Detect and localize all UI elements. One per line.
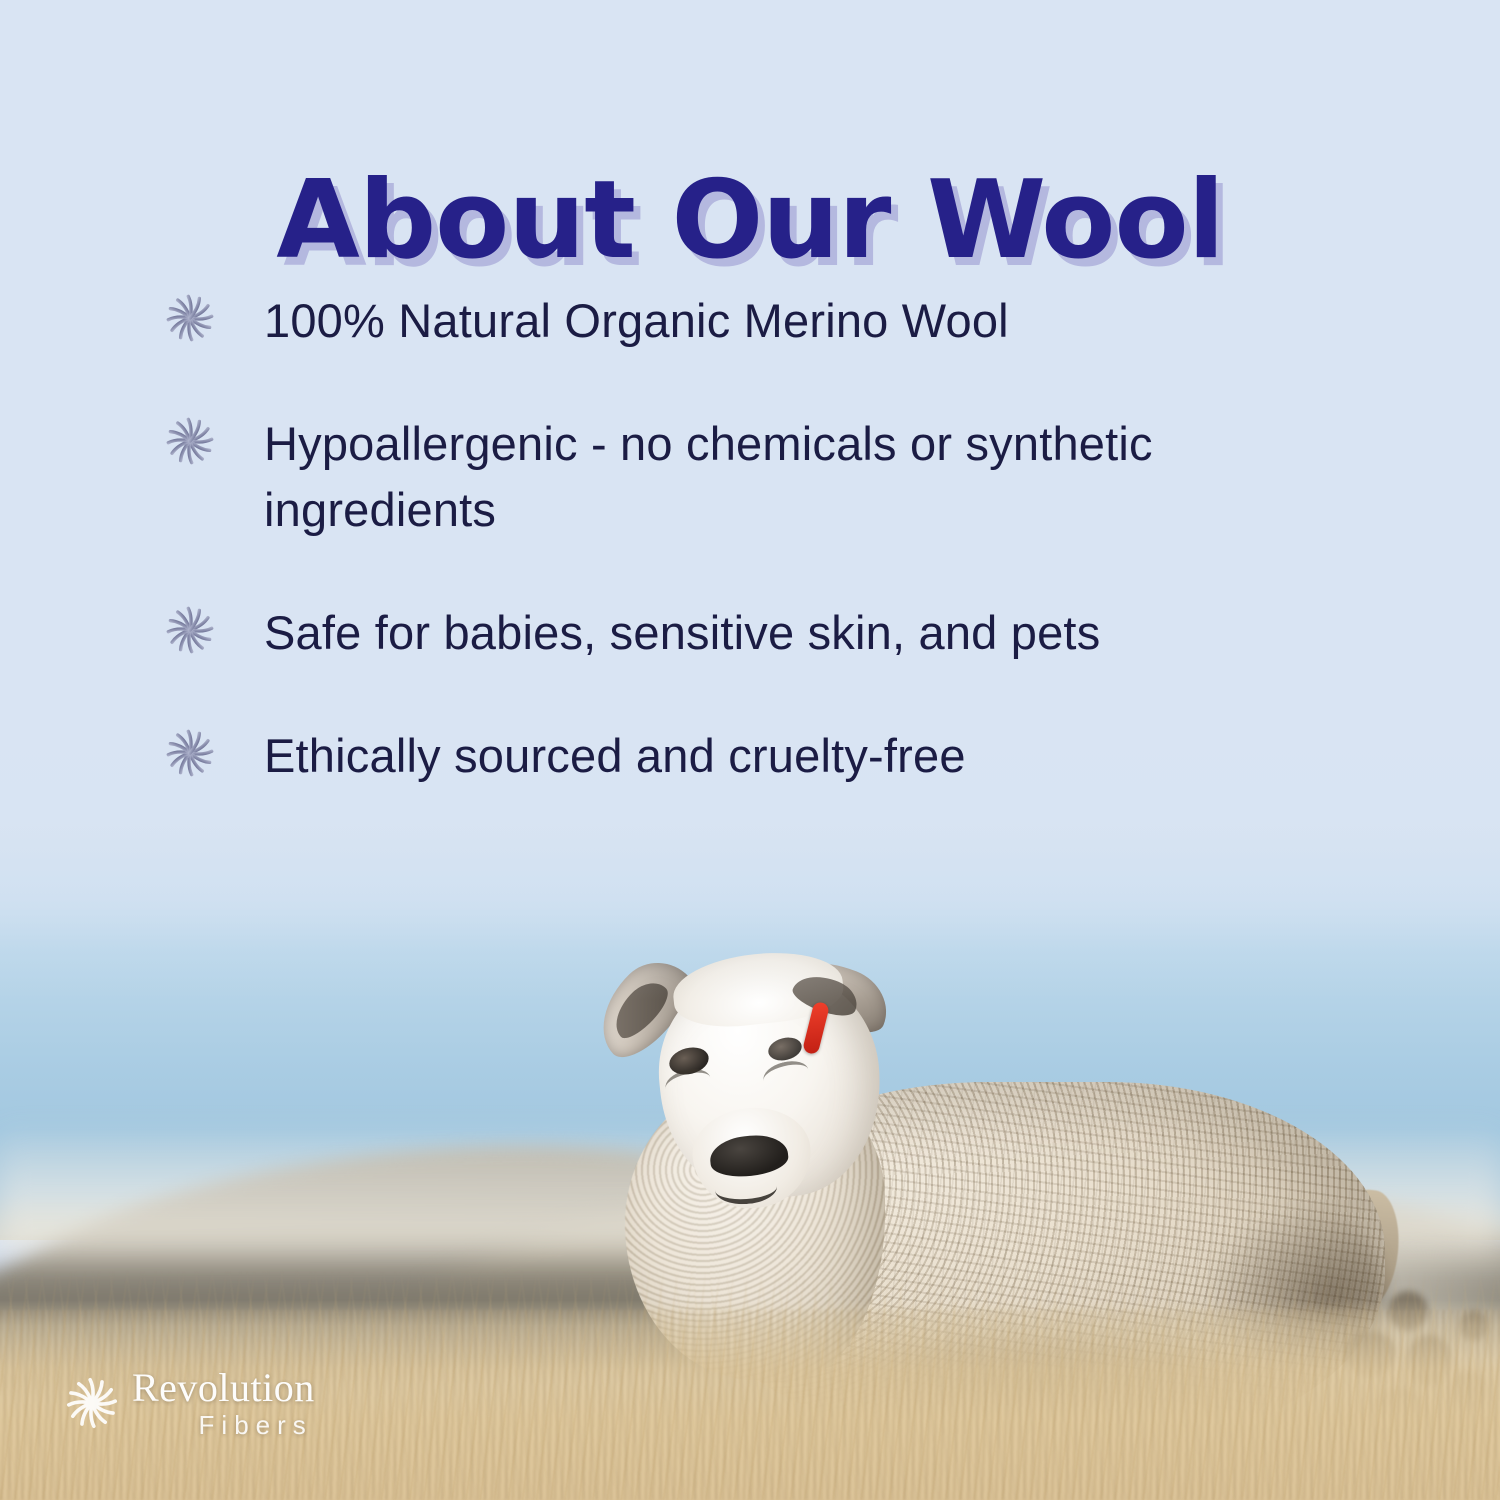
list-item-label: 100% Natural Organic Merino Wool bbox=[264, 288, 1009, 355]
logo-name: Revolution bbox=[132, 1365, 315, 1410]
content-layer: About Our Wool bbox=[0, 0, 1500, 1500]
list-item: Ethically sourced and cruelty-free bbox=[162, 723, 1342, 790]
feature-list: 100% Natural Organic Merino Wool bbox=[162, 288, 1342, 846]
brand-logo: Revolution Fibers bbox=[62, 1368, 315, 1438]
swirl-icon bbox=[162, 602, 218, 658]
list-item-label: Ethically sourced and cruelty-free bbox=[264, 723, 966, 790]
swirl-icon bbox=[162, 725, 218, 781]
list-item: 100% Natural Organic Merino Wool bbox=[162, 288, 1342, 355]
page-title: About Our Wool bbox=[0, 158, 1500, 283]
swirl-icon bbox=[162, 290, 218, 346]
logo-subtitle: Fibers bbox=[132, 1412, 315, 1438]
logo-wordmark: Revolution Fibers bbox=[132, 1368, 315, 1438]
list-item-label: Hypoallergenic - no chemicals or synthet… bbox=[264, 411, 1274, 544]
about-our-wool-infographic: About Our Wool bbox=[0, 0, 1500, 1500]
list-item: Hypoallergenic - no chemicals or synthet… bbox=[162, 411, 1342, 544]
list-item: Safe for babies, sensitive skin, and pet… bbox=[162, 600, 1342, 667]
list-item-label: Safe for babies, sensitive skin, and pet… bbox=[264, 600, 1100, 667]
swirl-icon bbox=[62, 1373, 122, 1433]
swirl-icon bbox=[162, 413, 218, 469]
